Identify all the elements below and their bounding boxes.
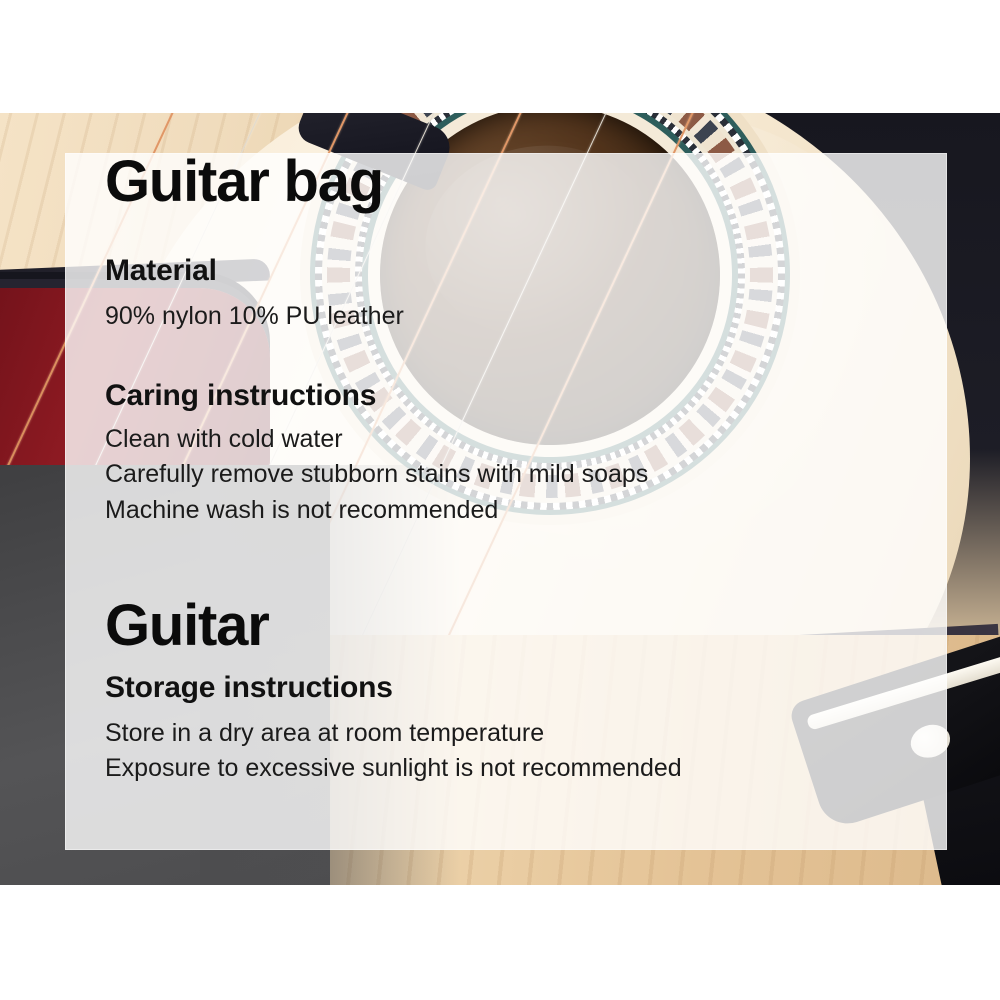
info-text-layer: Guitar bag Material 90% nylon 10% PU lea… <box>105 153 925 787</box>
group-line-caring-0: Clean with cold water <box>105 422 925 458</box>
group-title-material: Material <box>105 254 925 288</box>
group-line-storage-1: Exposure to excessive sunlight is not re… <box>105 751 925 787</box>
group-line-caring-2: Machine wash is not recommended <box>105 493 925 529</box>
section-heading-guitar-bag: Guitar bag <box>105 153 925 211</box>
group-line-storage-0: Store in a dry area at room temperature <box>105 716 925 752</box>
product-info-image: Guitar bag Material 90% nylon 10% PU lea… <box>0 0 1000 1000</box>
section-heading-guitar: Guitar <box>105 597 925 655</box>
group-title-caring-instructions: Caring instructions <box>105 379 925 413</box>
group-line-material-0: 90% nylon 10% PU leather <box>105 299 925 335</box>
group-line-caring-1: Carefully remove stubborn stains with mi… <box>105 457 925 493</box>
group-title-storage-instructions: Storage instructions <box>105 671 925 705</box>
